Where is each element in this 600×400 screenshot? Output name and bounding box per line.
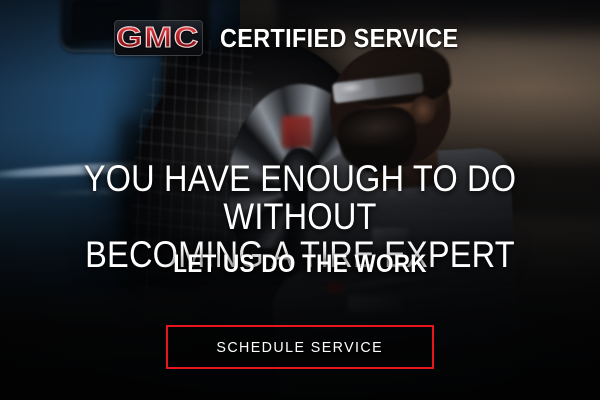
schedule-service-button-label: SCHEDULE SERVICE (217, 339, 384, 356)
gmc-certified-service-ad: GMC CERTIFIED SERVICE YOU HAVE ENOUGH TO… (0, 0, 600, 400)
ad-content: GMC CERTIFIED SERVICE YOU HAVE ENOUGH TO… (0, 0, 600, 400)
gmc-logo-icon: GMC (115, 21, 201, 55)
subheadline: LET US DO THE WORK (30, 252, 570, 277)
headline-line-1: YOU HAVE ENOUGH TO DO WITHOUT (36, 160, 564, 236)
schedule-service-button[interactable]: SCHEDULE SERVICE (166, 325, 434, 369)
brand-lockup: GMC CERTIFIED SERVICE (0, 21, 600, 55)
certified-service-tagline: CERTIFIED SERVICE (220, 25, 458, 51)
gmc-logo-text: GMC (117, 24, 201, 53)
